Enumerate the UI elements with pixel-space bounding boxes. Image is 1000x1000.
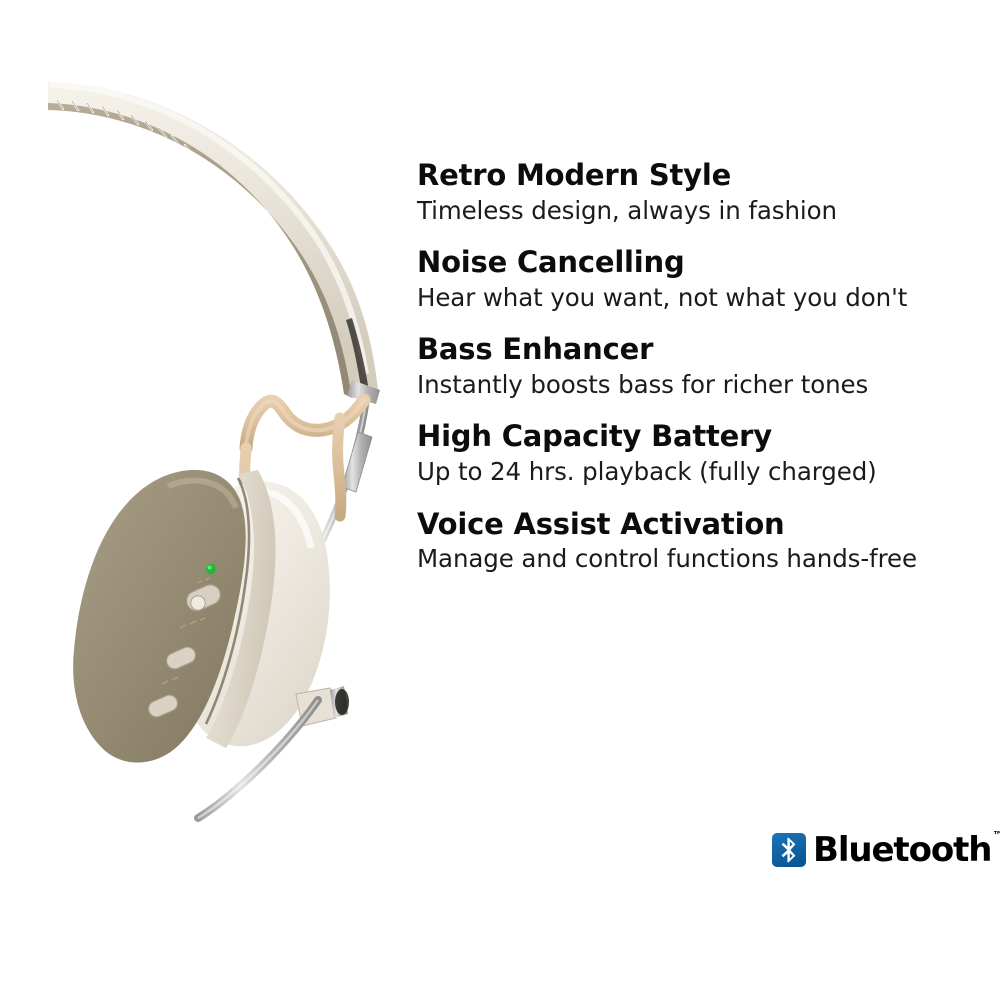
feature-description: Manage and control functions hands-free [417, 543, 977, 574]
trademark-symbol: ™ [992, 830, 1000, 841]
feature-title: High Capacity Battery [417, 419, 977, 454]
feature-description: Up to 24 hrs. playback (fully charged) [417, 456, 977, 487]
headband [48, 82, 380, 404]
feature-list: Retro Modern Style Timeless design, alwa… [417, 158, 977, 575]
headband-stitching [57, 100, 312, 396]
bluetooth-logo: Bluetooth ™ [772, 833, 991, 867]
feature-description: Timeless design, always in fashion [417, 195, 977, 226]
feature-item-bass-enhancer: Bass Enhancer Instantly boosts bass for … [417, 332, 977, 400]
bluetooth-rune-icon [772, 833, 806, 867]
feature-title: Retro Modern Style [417, 158, 977, 193]
feature-title: Voice Assist Activation [417, 507, 977, 542]
headphones-product-image [0, 0, 420, 830]
product-feature-card: Retro Modern Style Timeless design, alwa… [0, 0, 1000, 1000]
bluetooth-wordmark-text: Bluetooth [813, 830, 991, 870]
feature-description: Instantly boosts bass for richer tones [417, 369, 977, 400]
feature-item-high-capacity-battery: High Capacity Battery Up to 24 hrs. play… [417, 419, 977, 487]
bluetooth-wordmark: Bluetooth ™ [813, 833, 991, 867]
feature-item-retro-modern-style: Retro Modern Style Timeless design, alwa… [417, 158, 977, 226]
feature-title: Bass Enhancer [417, 332, 977, 367]
feature-item-noise-cancelling: Noise Cancelling Hear what you want, not… [417, 245, 977, 313]
feature-description: Hear what you want, not what you don't [417, 282, 977, 313]
feature-item-voice-assist-activation: Voice Assist Activation Manage and contr… [417, 507, 977, 575]
status-led [206, 564, 216, 574]
feature-title: Noise Cancelling [417, 245, 977, 280]
